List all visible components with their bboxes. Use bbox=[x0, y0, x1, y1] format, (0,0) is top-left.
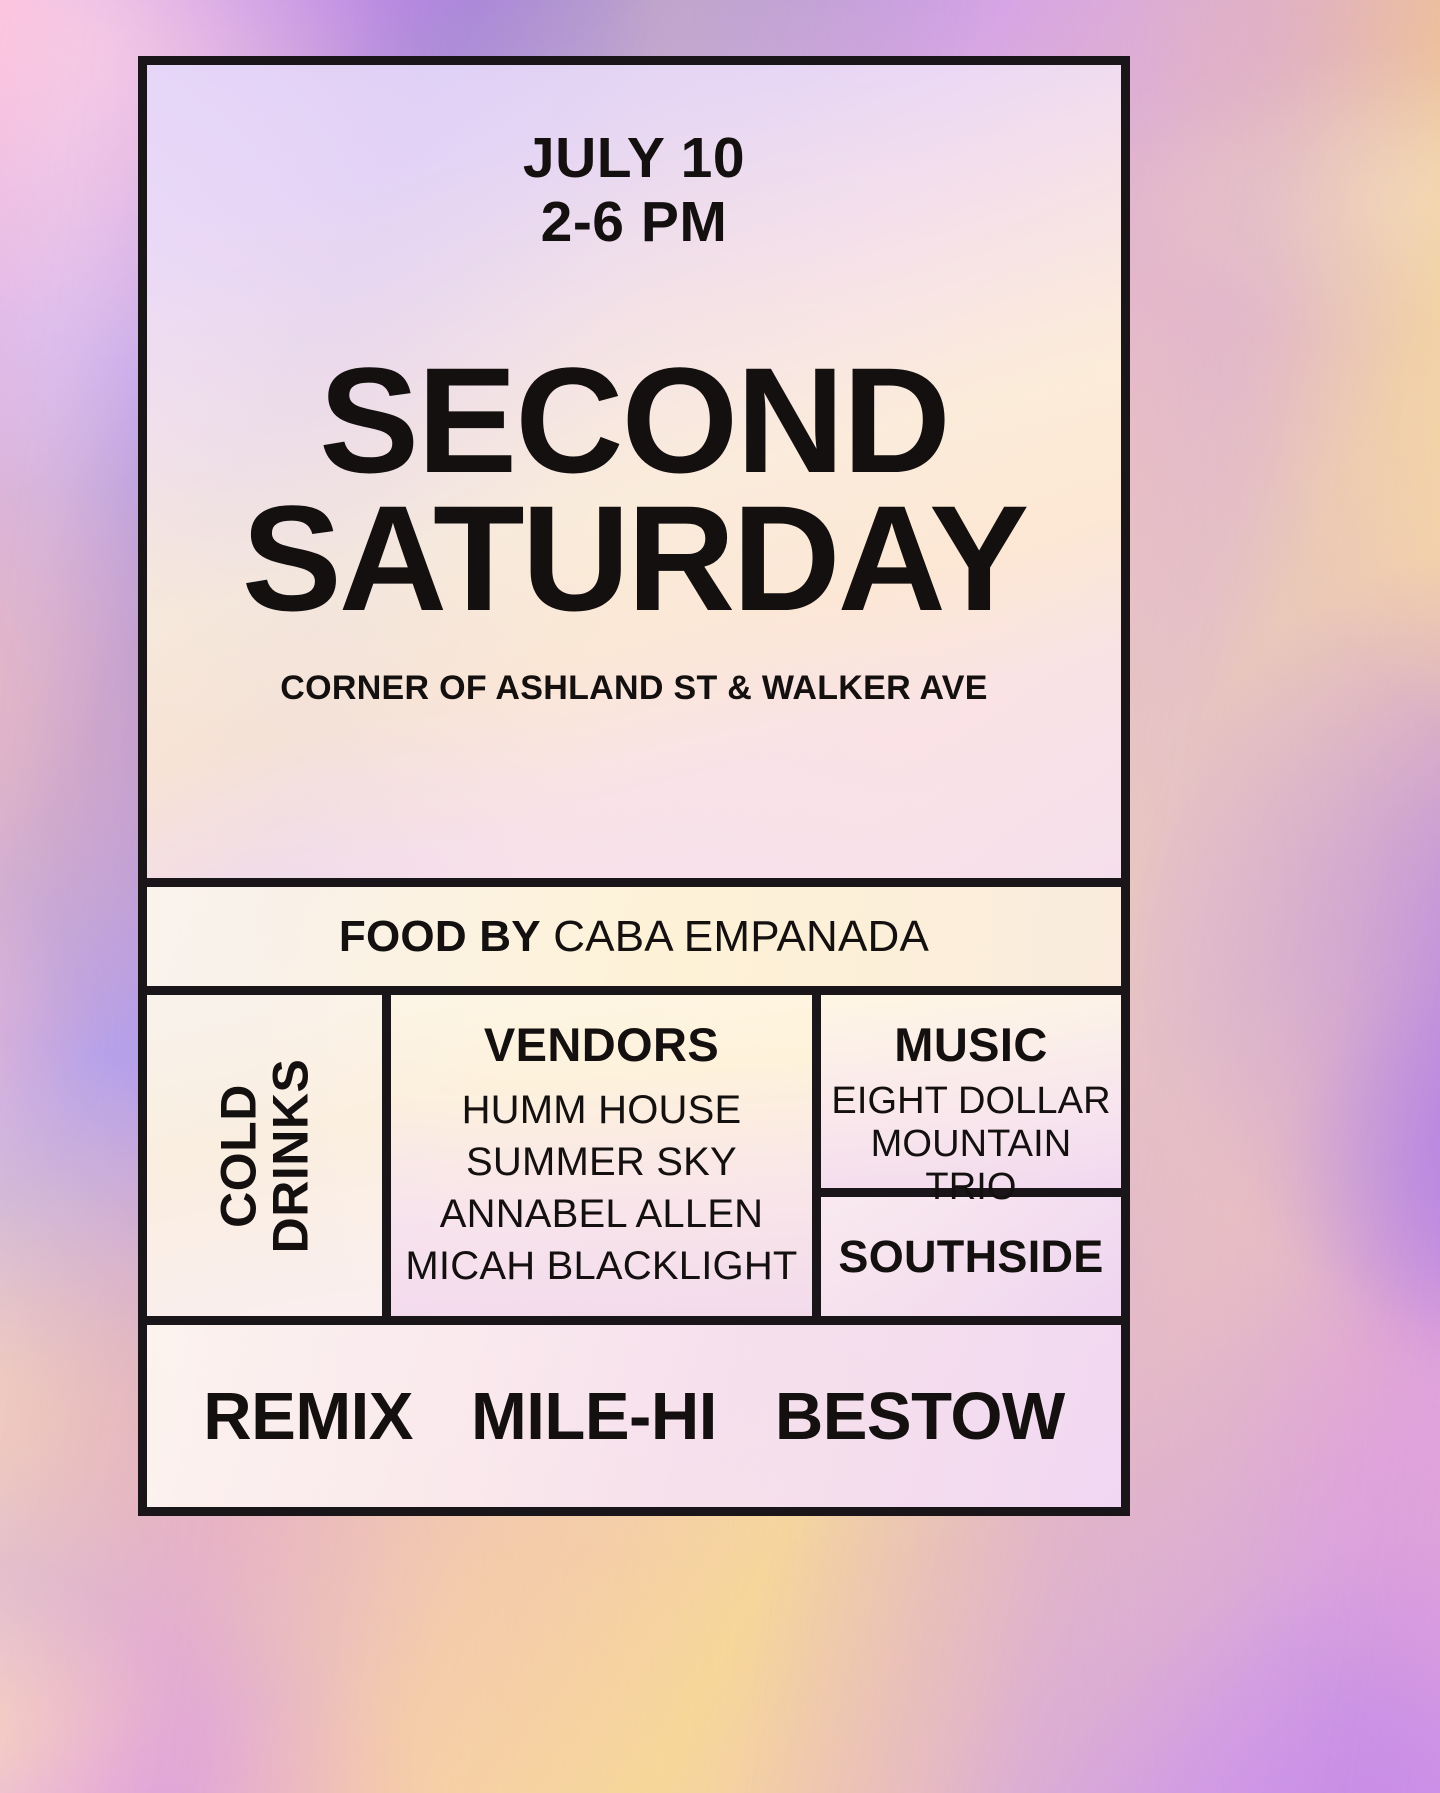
poster-frame: JULY 10 2-6 PM SECOND SATURDAY CORNER OF… bbox=[138, 56, 1130, 1516]
sponsors-row: REMIX MILE-HI BESTOW bbox=[147, 1325, 1121, 1507]
title-line-2: SATURDAY bbox=[242, 489, 1026, 627]
list-item: ANNABEL ALLEN bbox=[405, 1188, 797, 1240]
cold-drinks-line-1: COLD bbox=[213, 1058, 265, 1253]
food-vendor-name: CABA EMPANADA bbox=[553, 912, 929, 961]
music-heading: MUSIC bbox=[894, 1017, 1047, 1072]
vendors-cell: VENDORS HUMM HOUSE SUMMER SKY ANNABEL AL… bbox=[391, 995, 821, 1316]
hero-section: JULY 10 2-6 PM SECOND SATURDAY CORNER OF… bbox=[147, 65, 1121, 887]
food-line: FOOD BY CABA EMPANADA bbox=[339, 912, 929, 962]
food-section: FOOD BY CABA EMPANADA bbox=[147, 887, 1121, 995]
cold-drinks-line-2: DRINKS bbox=[265, 1058, 317, 1253]
title-line-1: SECOND bbox=[242, 351, 1026, 489]
event-date: JULY 10 bbox=[523, 127, 745, 191]
event-address: CORNER OF ASHLAND ST & WALKER AVE bbox=[280, 669, 988, 708]
list-item: EIGHT DOLLAR bbox=[831, 1080, 1110, 1123]
list-item: SUMMER SKY bbox=[405, 1136, 797, 1188]
vendors-list: HUMM HOUSE SUMMER SKY ANNABEL ALLEN MICA… bbox=[405, 1084, 797, 1292]
sponsor-name: MILE-HI bbox=[471, 1378, 717, 1455]
food-label: FOOD BY bbox=[339, 912, 541, 961]
list-item: HUMM HOUSE bbox=[405, 1084, 797, 1136]
event-time: 2-6 PM bbox=[523, 191, 745, 255]
southside-label: SOUTHSIDE bbox=[838, 1231, 1103, 1283]
music-cell: MUSIC EIGHT DOLLAR MOUNTAIN TRIO bbox=[821, 995, 1121, 1197]
event-date-time: JULY 10 2-6 PM bbox=[523, 127, 745, 255]
sponsor-name: REMIX bbox=[203, 1378, 413, 1455]
cold-drinks-label: COLD DRINKS bbox=[213, 1058, 317, 1253]
vendors-heading: VENDORS bbox=[484, 1017, 719, 1072]
sponsor-name: BESTOW bbox=[775, 1378, 1065, 1455]
right-column: MUSIC EIGHT DOLLAR MOUNTAIN TRIO SOUTHSI… bbox=[821, 995, 1121, 1316]
mid-grid: COLD DRINKS VENDORS HUMM HOUSE SUMMER SK… bbox=[147, 995, 1121, 1325]
cold-drinks-cell: COLD DRINKS bbox=[147, 995, 391, 1316]
list-item: TRIO bbox=[831, 1166, 1110, 1209]
list-item: MICAH BLACKLIGHT bbox=[405, 1240, 797, 1292]
southside-cell: SOUTHSIDE bbox=[821, 1197, 1121, 1316]
list-item: MOUNTAIN bbox=[831, 1123, 1110, 1166]
music-list: EIGHT DOLLAR MOUNTAIN TRIO bbox=[831, 1080, 1110, 1209]
page-title: SECOND SATURDAY bbox=[242, 351, 1026, 627]
